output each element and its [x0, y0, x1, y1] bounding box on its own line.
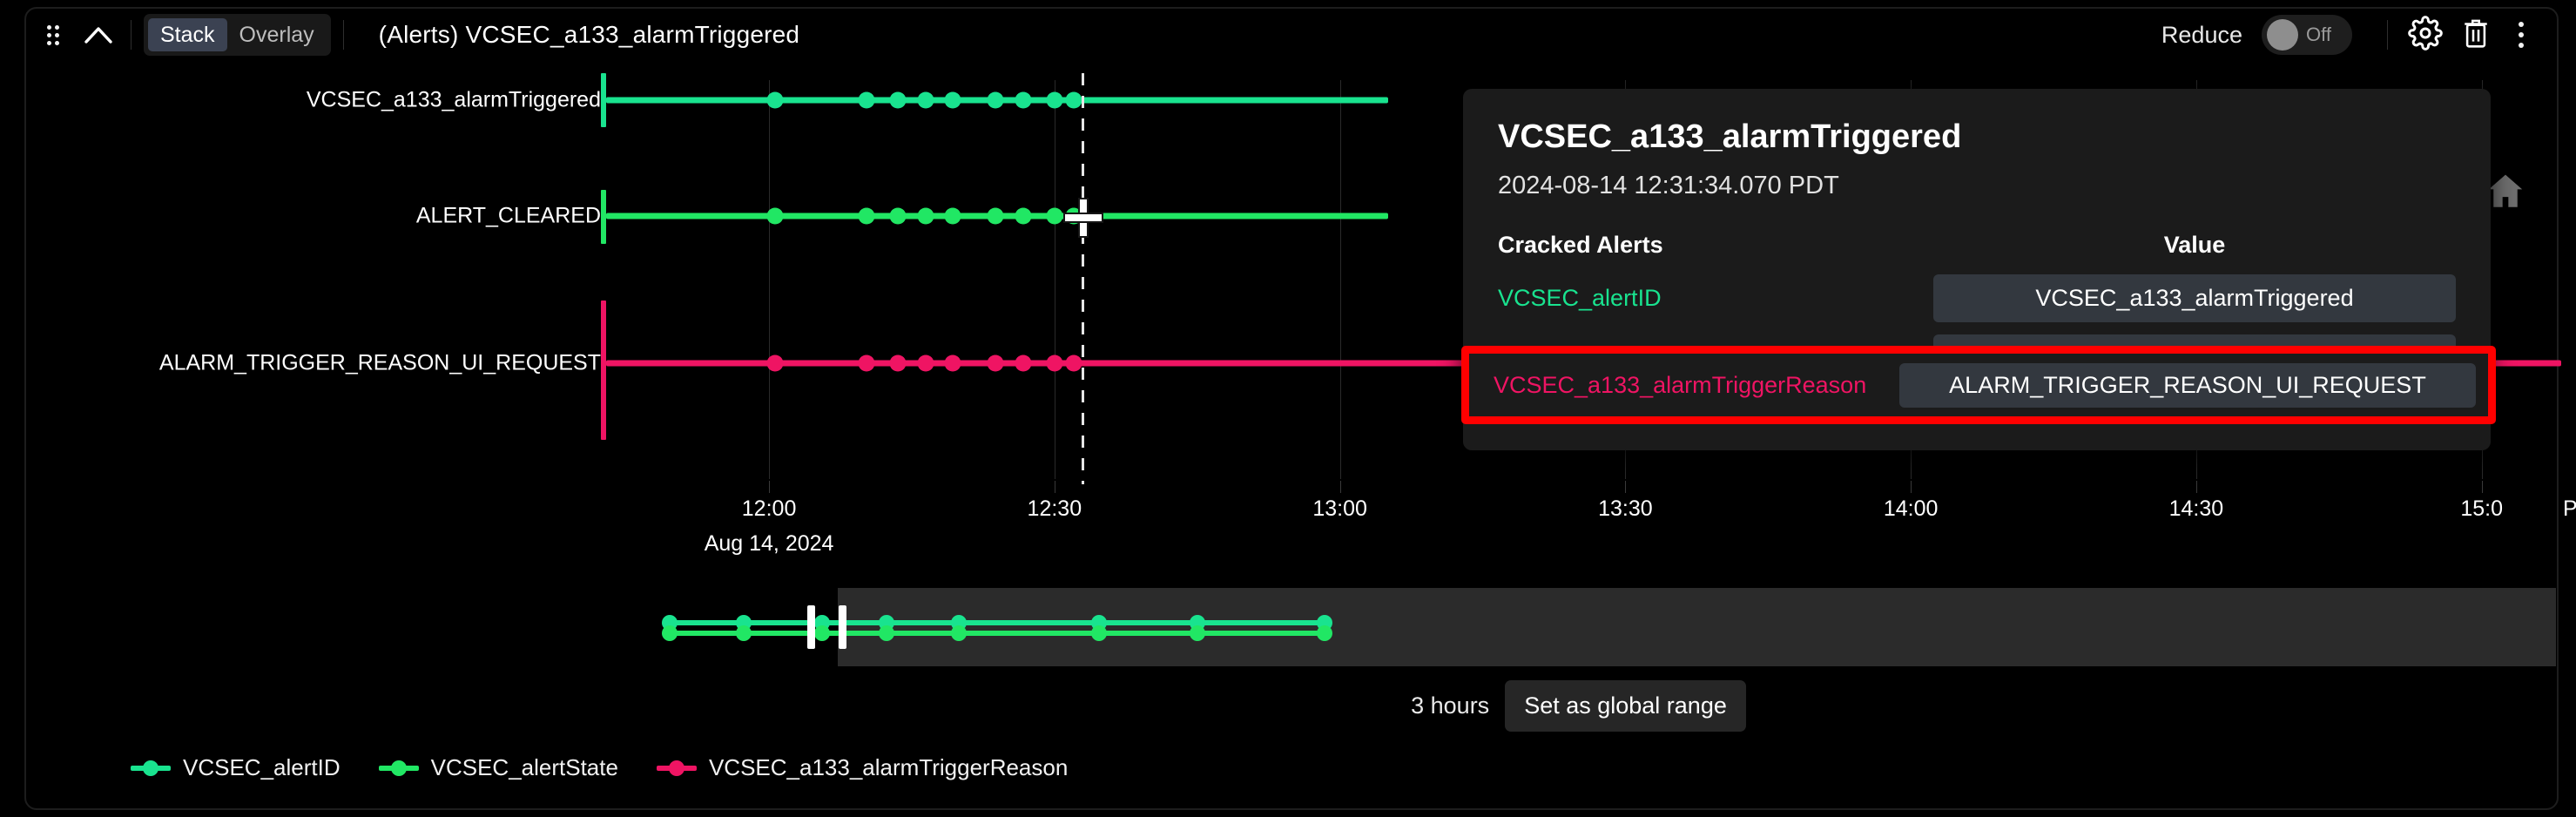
more-options-button[interactable] — [2501, 10, 2541, 60]
x-tick-mark — [2482, 481, 2483, 493]
x-tick-label: 14:00 — [1884, 496, 1939, 522]
x-tick-mark — [1625, 481, 1626, 493]
minimap-series-line-alertstate — [667, 631, 1324, 636]
data-point[interactable] — [945, 208, 961, 225]
x-tick-label: 13:00 — [1312, 496, 1367, 522]
minimap-point[interactable] — [879, 625, 894, 641]
legend-marker-icon — [131, 760, 171, 777]
data-point[interactable] — [1015, 92, 1031, 109]
set-global-range-button[interactable]: Set as global range — [1505, 680, 1746, 732]
legend-label: VCSEC_alertState — [431, 754, 618, 781]
mode-overlay-button[interactable]: Overlay — [227, 18, 327, 51]
minimap-series-line-alertid — [667, 620, 1324, 625]
tooltip-col-key: Cracked Alerts — [1498, 232, 1933, 259]
minimap-handle-right[interactable] — [839, 605, 846, 649]
settings-button[interactable] — [2400, 10, 2451, 60]
chart-legend: VCSEC_alertID VCSEC_alertState VCSEC_a13… — [131, 754, 1068, 781]
tooltip-row-value: VCSEC_a133_alarmTriggered — [1933, 274, 2456, 322]
data-point[interactable] — [766, 208, 783, 225]
minimap-point[interactable] — [736, 625, 752, 641]
legend-marker-icon — [379, 760, 419, 777]
minimap-point[interactable] — [1190, 625, 1205, 641]
data-point[interactable] — [859, 208, 875, 225]
highlighted-row-value: ALARM_TRIGGER_REASON_UI_REQUEST — [1899, 363, 2476, 408]
y-axis-labels: VCSEC_a133_alarmTriggered ALERT_CLEARED … — [26, 61, 601, 812]
y-label-0: VCSEC_a133_alarmTriggered — [307, 88, 601, 113]
tooltip-timestamp: 2024-08-14 12:31:34.070 PDT — [1498, 172, 2456, 200]
range-duration-label: 3 hours — [1411, 692, 1489, 719]
legend-item-alertstate[interactable]: VCSEC_alertState — [379, 754, 618, 781]
legend-marker-icon — [657, 760, 697, 777]
legend-label: VCSEC_alertID — [183, 754, 341, 781]
reduce-toggle-state: Off — [2306, 24, 2331, 46]
data-point[interactable] — [945, 92, 961, 109]
highlighted-tooltip-row: VCSEC_a133_alarmTriggerReason ALARM_TRIG… — [1461, 346, 2496, 424]
gear-icon — [2408, 16, 2443, 55]
data-point[interactable] — [859, 92, 875, 109]
y-label-1: ALERT_CLEARED — [416, 204, 601, 229]
highlighted-row-key: VCSEC_a133_alarmTriggerReason — [1481, 372, 1899, 399]
data-point[interactable] — [859, 355, 875, 372]
x-tick-mark — [1340, 481, 1341, 493]
page-title: (Alerts) VCSEC_a133_alarmTriggered — [379, 21, 800, 49]
cursor-crosshair-line — [1082, 73, 1084, 484]
data-point[interactable] — [1015, 208, 1031, 225]
data-point[interactable] — [988, 92, 1004, 109]
range-controls: 3 hours Set as global range — [601, 675, 2556, 736]
minimap-handle-left[interactable] — [807, 605, 815, 649]
gridline — [1340, 80, 1341, 479]
x-tick-label: 15:0 — [2460, 496, 2503, 522]
tooltip-col-value: Value — [1933, 232, 2456, 259]
data-point[interactable] — [766, 355, 783, 372]
data-point[interactable] — [1046, 208, 1062, 225]
header-divider-2 — [343, 20, 344, 50]
minimap-point[interactable] — [951, 625, 967, 641]
minimap-point[interactable] — [1317, 625, 1332, 641]
legend-item-triggerreason[interactable]: VCSEC_a133_alarmTriggerReason — [657, 754, 1068, 781]
mode-stack-button[interactable]: Stack — [148, 18, 227, 51]
data-point[interactable] — [766, 92, 783, 109]
x-axis: 12:00 12:30 13:00 13:30 14:00 14:30 15:0… — [601, 481, 2556, 533]
x-tick-mark — [769, 481, 770, 493]
data-point[interactable] — [890, 208, 907, 225]
x-tick-mark — [1911, 481, 1912, 493]
tooltip-row: VCSEC_alertID VCSEC_a133_alarmTriggered — [1498, 274, 2456, 322]
y-label-2: ALARM_TRIGGER_REASON_UI_REQUEST — [159, 351, 601, 376]
time-range-minimap[interactable] — [601, 588, 2556, 666]
reduce-label: Reduce — [2161, 22, 2242, 49]
data-point[interactable] — [1066, 208, 1082, 225]
data-point[interactable] — [1015, 355, 1031, 372]
x-tick-label: 12:00 — [742, 496, 797, 522]
drag-dots-icon[interactable] — [40, 20, 66, 50]
header-actions: Reduce Off — [2161, 10, 2557, 60]
gridline — [769, 80, 770, 479]
panel-header: Stack Overlay (Alerts) VCSEC_a133_alarmT… — [26, 9, 2557, 61]
data-point[interactable] — [988, 355, 1004, 372]
display-mode-toggle-group: Stack Overlay — [144, 14, 331, 56]
legend-label: VCSEC_a133_alarmTriggerReason — [709, 754, 1068, 781]
tooltip-table-header: Cracked Alerts Value — [1498, 232, 2456, 259]
header-divider-3 — [2387, 20, 2388, 50]
series-axis-tick-triggerreason — [601, 300, 606, 440]
minimap-point[interactable] — [814, 625, 830, 641]
data-point[interactable] — [890, 92, 907, 109]
data-point[interactable] — [1066, 92, 1082, 109]
chart-panel: Stack Overlay (Alerts) VCSEC_a133_alarmT… — [24, 7, 2559, 810]
x-tick-label: 13:30 — [1598, 496, 1653, 522]
tooltip-row-key: VCSEC_alertID — [1498, 285, 1933, 312]
x-tick-label: 12:30 — [1028, 496, 1082, 522]
data-point[interactable] — [1066, 355, 1082, 372]
delete-button[interactable] — [2451, 10, 2501, 60]
toggle-knob — [2267, 19, 2298, 51]
minimap-point[interactable] — [1091, 625, 1107, 641]
tooltip-title: VCSEC_a133_alarmTriggered — [1498, 118, 2456, 156]
reduce-toggle[interactable]: Off — [2262, 15, 2352, 55]
screen-root: Stack Overlay (Alerts) VCSEC_a133_alarmT… — [0, 0, 2576, 817]
data-point[interactable] — [917, 355, 934, 372]
x-tick-mark — [1055, 481, 1055, 493]
trash-icon — [2460, 16, 2492, 55]
header-divider-1 — [131, 20, 131, 50]
x-tick-label: 14:30 — [2169, 496, 2224, 522]
data-point[interactable] — [1046, 92, 1062, 109]
data-point[interactable] — [890, 355, 907, 372]
data-point[interactable] — [988, 208, 1004, 225]
x-axis-date-label: Aug 14, 2024 — [705, 531, 834, 557]
minimap-unselected-left — [601, 588, 814, 666]
gridline — [1055, 80, 1055, 479]
minimap-point[interactable] — [662, 625, 678, 641]
data-point[interactable] — [1046, 355, 1062, 372]
chevron-up-icon[interactable] — [78, 17, 118, 52]
data-point[interactable] — [917, 208, 934, 225]
x-tick-mark — [2196, 481, 2197, 493]
data-point[interactable] — [945, 355, 961, 372]
legend-item-alertid[interactable]: VCSEC_alertID — [131, 754, 341, 781]
timezone-label: PDT — [2563, 496, 2576, 522]
data-point[interactable] — [917, 92, 934, 109]
